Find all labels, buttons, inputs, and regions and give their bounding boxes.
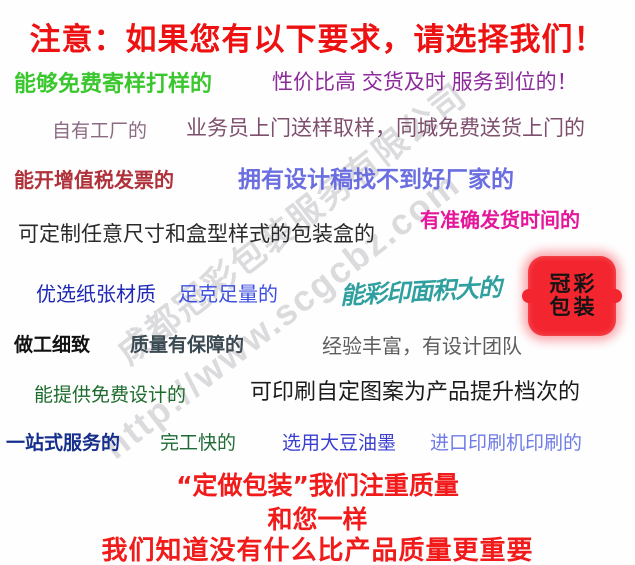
feature-own-factory: 自有工厂的 bbox=[52, 116, 147, 143]
feature-free-sample: 能够免费寄样打样的 bbox=[14, 66, 212, 98]
closing-line-3: 我们知道没有什么比产品质量更重要 bbox=[0, 530, 635, 565]
feature-accurate-ship-time: 有准确发货时间的 bbox=[420, 204, 580, 233]
company-stamp-logo: 冠彩 包装 bbox=[528, 256, 616, 336]
feature-soy-ink: 选用大豆油墨 bbox=[282, 428, 396, 455]
feature-free-design: 能提供免费设计的 bbox=[34, 380, 186, 407]
stamp-text-line-2: 包装 bbox=[547, 296, 598, 319]
feature-custom-pattern-printing: 可印刷自定图案为产品提升档次的 bbox=[250, 374, 580, 406]
feature-vat-invoice: 能开增值税发票的 bbox=[14, 164, 174, 193]
stamp-text-line-1: 冠彩 bbox=[547, 273, 598, 296]
feature-fast-completion: 完工快的 bbox=[160, 428, 236, 455]
feature-imported-press: 进口印刷机印刷的 bbox=[430, 428, 582, 455]
feature-large-area-color-print: 能彩印面积大的 bbox=[339, 268, 502, 311]
closing-line-1: “定做包装”我们注重质量 bbox=[0, 466, 635, 502]
feature-custom-size-shape: 可定制任意尺寸和盒型样式的包装盒的 bbox=[18, 218, 375, 248]
page-title: 注意：如果您有以下要求，请选择我们！ bbox=[0, 14, 635, 59]
stamp-body: 冠彩 包装 bbox=[528, 256, 616, 336]
feature-value-delivery-service: 性价比高 交货及时 服务到位的！ bbox=[272, 66, 578, 96]
feature-one-stop-service: 一站式服务的 bbox=[6, 428, 120, 455]
feature-quality-paper: 优选纸张材质 bbox=[36, 278, 156, 307]
feature-has-design-needs-factory: 拥有设计稿找不到好厂家的 bbox=[238, 160, 514, 194]
feature-door-to-door-sampling: 业务员上门送样取样，同城免费送货上门的 bbox=[186, 112, 585, 142]
promo-banner: 成都冠彩包装服务有限公司 http://www.scgcbz.com 注意：如果… bbox=[0, 0, 635, 565]
feature-full-weight: 足克足量的 bbox=[178, 278, 278, 307]
feature-fine-workmanship: 做工细致 bbox=[14, 330, 90, 357]
feature-experienced-design-team: 经验丰富，有设计团队 bbox=[322, 330, 522, 359]
feature-quality-guaranteed: 质量有保障的 bbox=[130, 330, 244, 357]
